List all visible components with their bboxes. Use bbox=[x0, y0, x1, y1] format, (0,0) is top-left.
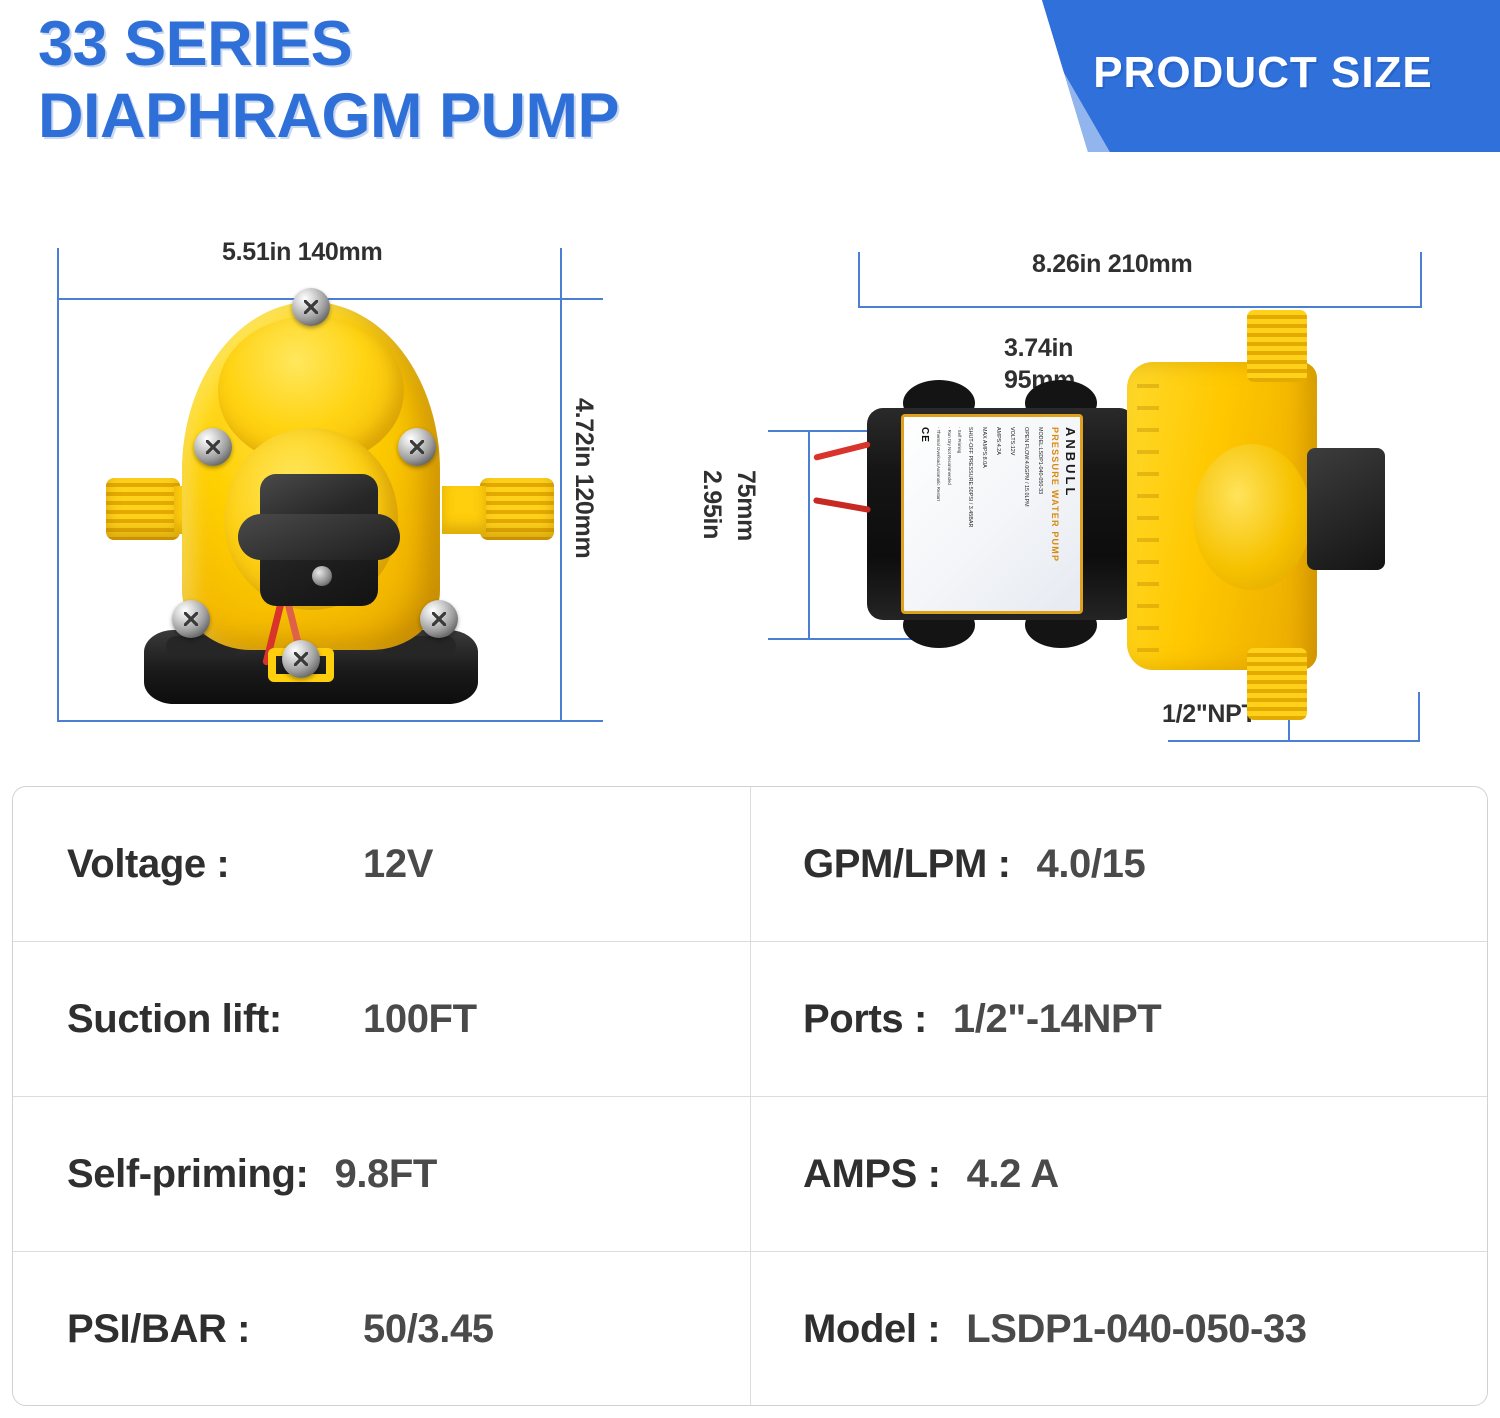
pump-side-wire-1 bbox=[813, 441, 871, 461]
label-spec-0: MODEL:LSDP1-040-050-33 bbox=[1036, 427, 1044, 607]
table-row: Voltage : 12V GPM/LPM : 4.0/15 bbox=[13, 787, 1487, 942]
spec-value: 9.8FT bbox=[334, 1152, 436, 1197]
specification-table: Voltage : 12V GPM/LPM : 4.0/15 Suction l… bbox=[12, 786, 1488, 1406]
spec-key: PSI/BAR : bbox=[67, 1307, 337, 1352]
product-size-banner: PRODUCT SIZE bbox=[980, 0, 1500, 152]
spec-value: 100FT bbox=[363, 997, 477, 1042]
pump-side-port-bottom bbox=[1247, 648, 1307, 720]
motor-height-dim-line bbox=[808, 430, 810, 640]
product-size-infographic: 33 SERIES DIAPHRAGM PUMP PRODUCT SIZE 5.… bbox=[0, 0, 1500, 1418]
pump-head-bowl bbox=[1193, 444, 1311, 590]
label-brand-name: ANBULL bbox=[1063, 427, 1078, 607]
spec-cell-psi-bar: PSI/BAR : 50/3.45 bbox=[13, 1252, 750, 1406]
side-width-dim-line bbox=[858, 306, 1422, 308]
title-line-1: 33 SERIES bbox=[38, 8, 938, 80]
screw-upper-right bbox=[398, 428, 436, 466]
spec-key: Self-priming: bbox=[67, 1152, 308, 1197]
label-tagline: PRESSURE WATER PUMP bbox=[1050, 427, 1060, 607]
spec-key: AMPS : bbox=[803, 1152, 941, 1197]
spec-key: Suction lift: bbox=[67, 997, 337, 1042]
spec-cell-self-priming: Self-priming: 9.8FT bbox=[13, 1097, 750, 1251]
screw-upper-left bbox=[194, 428, 232, 466]
product-spec-label: ANBULL PRESSURE WATER PUMP MODEL:LSDP1-0… bbox=[901, 414, 1083, 614]
label-spec-4: MAX AMPS:8.0A bbox=[980, 427, 988, 607]
label-spec-5: SHUT-OFF PRESSURE:50PSI / 3.45BAR bbox=[966, 427, 974, 607]
screw-lower-right bbox=[420, 600, 458, 638]
front-width-label: 5.51in 140mm bbox=[222, 238, 382, 267]
front-height-label: 4.72in 120mm bbox=[569, 398, 598, 558]
spec-value: 4.2 A bbox=[967, 1152, 1059, 1197]
pump-port-neck-right bbox=[442, 486, 486, 534]
motor-height-label-in: 2.95in bbox=[697, 470, 726, 539]
front-width-ext-left bbox=[57, 248, 59, 300]
side-width-ext-left bbox=[858, 252, 860, 308]
screw-top bbox=[292, 288, 330, 326]
front-left-ext-line bbox=[57, 298, 59, 722]
npt-dim-line bbox=[1168, 740, 1420, 742]
spec-cell-suction-lift: Suction lift: 100FT bbox=[13, 942, 750, 1096]
spec-key: GPM/LPM : bbox=[803, 842, 1011, 887]
screw-bottom-center bbox=[282, 640, 320, 678]
screw-lower-left bbox=[172, 600, 210, 638]
spec-value: 12V bbox=[363, 842, 433, 887]
pump-front-view-image bbox=[120, 278, 540, 708]
pressure-switch-screw bbox=[312, 566, 332, 586]
label-spec-2: VOLTS:12V bbox=[1008, 427, 1016, 607]
spec-value: LSDP1-040-050-33 bbox=[966, 1307, 1306, 1352]
motor-height-label-mm: 75mm bbox=[731, 470, 760, 541]
label-note-0: · Self Priming bbox=[956, 427, 962, 607]
front-height-ext-bottom bbox=[57, 720, 603, 722]
pump-inlet-port-left bbox=[106, 478, 180, 540]
table-row: Self-priming: 9.8FT AMPS : 4.2 A bbox=[13, 1097, 1487, 1252]
page-title: 33 SERIES DIAPHRAGM PUMP bbox=[38, 8, 938, 152]
banner-label: PRODUCT SIZE bbox=[980, 0, 1500, 152]
label-spec-3: AMPS:4.2A bbox=[994, 427, 1002, 607]
pump-side-port-top bbox=[1247, 310, 1307, 382]
side-width-ext-right bbox=[1420, 252, 1422, 308]
label-note-1: · Run Dry Not Recommended bbox=[945, 427, 951, 607]
table-row: Suction lift: 100FT Ports : 1/2"-14NPT bbox=[13, 942, 1487, 1097]
spec-cell-model: Model : LSDP1-040-050-33 bbox=[750, 1252, 1487, 1406]
spec-key: Model : bbox=[803, 1307, 940, 1352]
title-line-2: DIAPHRAGM PUMP bbox=[38, 80, 938, 152]
spec-cell-voltage: Voltage : 12V bbox=[13, 787, 750, 941]
front-height-dim-line bbox=[560, 298, 562, 722]
spec-value: 4.0/15 bbox=[1037, 842, 1146, 887]
front-width-ext-right bbox=[560, 248, 562, 300]
spec-cell-amps: AMPS : 4.2 A bbox=[750, 1097, 1487, 1251]
table-row: PSI/BAR : 50/3.45 Model : LSDP1-040-050-… bbox=[13, 1252, 1487, 1406]
spec-value: 1/2"-14NPT bbox=[953, 997, 1161, 1042]
pump-head-ribs bbox=[1137, 366, 1159, 666]
ce-mark-icon: CE bbox=[919, 427, 930, 607]
pump-side-wire-2 bbox=[813, 497, 871, 513]
pump-side-pressure-switch bbox=[1307, 448, 1385, 570]
label-note-2: · Thermal Overload,Automatic Restart bbox=[935, 427, 941, 607]
spec-value: 50/3.45 bbox=[363, 1307, 494, 1352]
spec-key: Ports : bbox=[803, 997, 927, 1042]
spec-cell-ports: Ports : 1/2"-14NPT bbox=[750, 942, 1487, 1096]
side-overall-width-label: 8.26in 210mm bbox=[1032, 250, 1192, 279]
pump-outlet-port-right bbox=[480, 478, 554, 540]
pump-side-view-image: ANBULL PRESSURE WATER PUMP MODEL:LSDP1-0… bbox=[855, 352, 1415, 712]
label-spec-1: OPEN FLOW:4.0GPM / 15.0LPM bbox=[1022, 427, 1030, 607]
npt-ext-right bbox=[1418, 692, 1420, 742]
spec-key: Voltage : bbox=[67, 842, 337, 887]
spec-cell-gpm-lpm: GPM/LPM : 4.0/15 bbox=[750, 787, 1487, 941]
pressure-switch-cover bbox=[260, 474, 378, 606]
